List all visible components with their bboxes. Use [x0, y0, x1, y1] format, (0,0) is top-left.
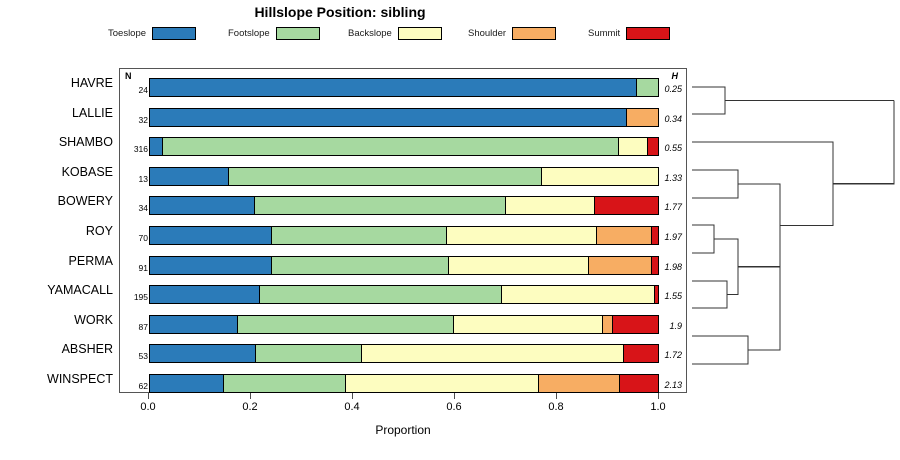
bar-segment-footslope[interactable] [255, 197, 506, 214]
legend-swatch-backslope [398, 27, 442, 40]
x-axis-tick-label: 0.0 [128, 401, 168, 413]
bar-segment-footslope[interactable] [163, 138, 620, 155]
row-n-value: 316 [122, 144, 148, 154]
y-axis-label-bowery: BOWERY [58, 194, 113, 208]
y-axis-label-kobase: KOBASE [62, 165, 113, 179]
legend-swatch-toeslope [152, 27, 196, 40]
table-row: 131.33 [120, 162, 686, 192]
row-h-value: 2.13 [652, 380, 682, 390]
row-h-value: 1.77 [652, 202, 682, 212]
bar-segment-summit[interactable] [595, 197, 658, 214]
x-axis-tick-label: 0.6 [434, 401, 474, 413]
stacked-bar[interactable] [149, 226, 659, 245]
row-n-value: 70 [122, 233, 148, 243]
row-h-value: 0.34 [652, 114, 682, 124]
bar-segment-toeslope[interactable] [150, 257, 272, 274]
bar-rows: 240.25320.343160.55131.33341.77701.97911… [120, 69, 686, 392]
stacked-bar[interactable] [149, 167, 659, 186]
row-n-value: 24 [122, 85, 148, 95]
chart-root: Hillslope Position: sibling Toeslope Foo… [0, 0, 900, 460]
x-axis-tick [250, 393, 251, 399]
legend-item-footslope: Footslope [228, 25, 320, 41]
y-axis-label-perma: PERMA [69, 254, 113, 268]
row-n-value: 195 [122, 292, 148, 302]
bar-segment-footslope[interactable] [238, 316, 455, 333]
bar-segment-footslope[interactable] [256, 345, 362, 362]
x-axis-tick [148, 393, 149, 399]
legend-label: Summit [588, 28, 620, 39]
y-axis-label-work: WORK [74, 313, 113, 327]
row-h-value: 0.25 [652, 84, 682, 94]
table-row: 701.97 [120, 221, 686, 251]
bar-segment-footslope[interactable] [260, 286, 502, 303]
legend-swatch-footslope [276, 27, 320, 40]
table-row: 240.25 [120, 73, 686, 103]
stacked-bar[interactable] [149, 137, 659, 156]
bar-segment-footslope[interactable] [272, 227, 447, 244]
bar-segment-toeslope[interactable] [150, 375, 224, 392]
legend-item-summit: Summit [588, 25, 670, 41]
bar-segment-toeslope[interactable] [150, 109, 627, 126]
x-axis-tick-label: 0.2 [230, 401, 270, 413]
table-row: 911.98 [120, 251, 686, 281]
row-h-value: 1.55 [652, 291, 682, 301]
stacked-bar[interactable] [149, 344, 659, 363]
bar-segment-backslope[interactable] [542, 168, 658, 185]
x-axis-tick-label: 1.0 [638, 401, 678, 413]
y-axis-label-havre: HAVRE [71, 76, 113, 90]
legend-item-backslope: Backslope [348, 25, 442, 41]
stacked-bar[interactable] [149, 285, 659, 304]
stacked-bar[interactable] [149, 78, 659, 97]
plot-panel: N H 240.25320.343160.55131.33341.77701.9… [119, 68, 687, 393]
stacked-bar[interactable] [149, 374, 659, 393]
legend-item-toeslope: Toeslope [108, 25, 196, 41]
bar-segment-backslope[interactable] [454, 316, 602, 333]
bar-segment-shoulder[interactable] [589, 257, 652, 274]
dendro-link-havre-lallie [692, 87, 725, 114]
y-axis-label-winspect: WINSPECT [47, 372, 113, 386]
bar-segment-toeslope[interactable] [150, 168, 229, 185]
x-axis-tick-label: 0.4 [332, 401, 372, 413]
table-row: 1951.55 [120, 280, 686, 310]
dendro-link-absher-winspect [692, 336, 748, 364]
x-axis-tick-label: 0.8 [536, 401, 576, 413]
legend: Toeslope Footslope Backslope Shoulder Su… [108, 25, 688, 41]
table-row: 871.9 [120, 310, 686, 340]
row-h-value: 1.9 [652, 321, 682, 331]
bar-segment-backslope[interactable] [449, 257, 589, 274]
dendro-link-mid-cluster [738, 184, 780, 267]
legend-label: Backslope [348, 28, 392, 39]
bar-segment-backslope[interactable] [619, 138, 648, 155]
row-n-value: 32 [122, 115, 148, 125]
bar-segment-shoulder[interactable] [603, 316, 613, 333]
bar-segment-backslope[interactable] [362, 345, 625, 362]
legend-swatch-summit [626, 27, 670, 40]
table-row: 531.72 [120, 339, 686, 369]
legend-label: Footslope [228, 28, 270, 39]
bar-segment-shoulder[interactable] [597, 227, 652, 244]
legend-label: Shoulder [468, 28, 506, 39]
stacked-bar[interactable] [149, 256, 659, 275]
stacked-bar[interactable] [149, 196, 659, 215]
bar-segment-footslope[interactable] [229, 168, 542, 185]
page-title: Hillslope Position: sibling [0, 4, 680, 20]
bar-segment-backslope[interactable] [506, 197, 595, 214]
y-axis-label-lallie: LALLIE [72, 106, 113, 120]
y-axis-label-yamacall: YAMACALL [47, 283, 113, 297]
dendro-link-work-absher [692, 281, 727, 308]
bar-segment-footslope[interactable] [224, 375, 346, 392]
row-h-value: 0.55 [652, 143, 682, 153]
row-h-value: 1.33 [652, 173, 682, 183]
bar-segment-toeslope[interactable] [150, 197, 255, 214]
x-axis-tick [556, 393, 557, 399]
dendrogram-svg [690, 68, 900, 393]
bar-segment-backslope[interactable] [447, 227, 596, 244]
row-n-value: 53 [122, 351, 148, 361]
y-axis-label-roy: ROY [86, 224, 113, 238]
row-h-value: 1.97 [652, 232, 682, 242]
stacked-bar[interactable] [149, 108, 659, 127]
bar-segment-footslope[interactable] [272, 257, 449, 274]
x-axis-tick [658, 393, 659, 399]
legend-label: Toeslope [108, 28, 146, 39]
row-h-value: 1.72 [652, 350, 682, 360]
dendro-link-bowery-roy [692, 170, 738, 198]
x-axis-tick [454, 393, 455, 399]
table-row: 3160.55 [120, 132, 686, 162]
bar-segment-toeslope[interactable] [150, 286, 260, 303]
table-row: 341.77 [120, 191, 686, 221]
row-n-value: 13 [122, 174, 148, 184]
y-axis-label-absher: ABSHER [62, 342, 113, 356]
bar-segment-shoulder[interactable] [539, 375, 621, 392]
bar-segment-toeslope[interactable] [150, 227, 272, 244]
bar-segment-toeslope[interactable] [150, 345, 256, 362]
table-row: 320.34 [120, 103, 686, 133]
y-axis-label-shambo: SHAMBO [59, 135, 113, 149]
dendrogram [690, 68, 900, 393]
row-n-value: 62 [122, 381, 148, 391]
x-axis-title: Proportion [119, 423, 687, 437]
bar-segment-toeslope[interactable] [150, 316, 238, 333]
row-n-value: 91 [122, 263, 148, 273]
bar-segment-backslope[interactable] [346, 375, 539, 392]
bar-segment-toeslope[interactable] [150, 79, 637, 96]
dendro-link-lower-join [748, 267, 780, 350]
stacked-bar[interactable] [149, 315, 659, 334]
legend-swatch-shoulder [512, 27, 556, 40]
dendro-link-perma-yamacall [692, 225, 714, 253]
legend-item-shoulder: Shoulder [468, 25, 556, 41]
bar-segment-toeslope[interactable] [150, 138, 163, 155]
dendro-link-root-right [833, 101, 894, 184]
dendro-link-perma-work-group [714, 239, 738, 295]
x-axis-tick [352, 393, 353, 399]
row-n-value: 34 [122, 203, 148, 213]
row-n-value: 87 [122, 322, 148, 332]
bar-segment-backslope[interactable] [502, 286, 656, 303]
row-h-value: 1.98 [652, 262, 682, 272]
